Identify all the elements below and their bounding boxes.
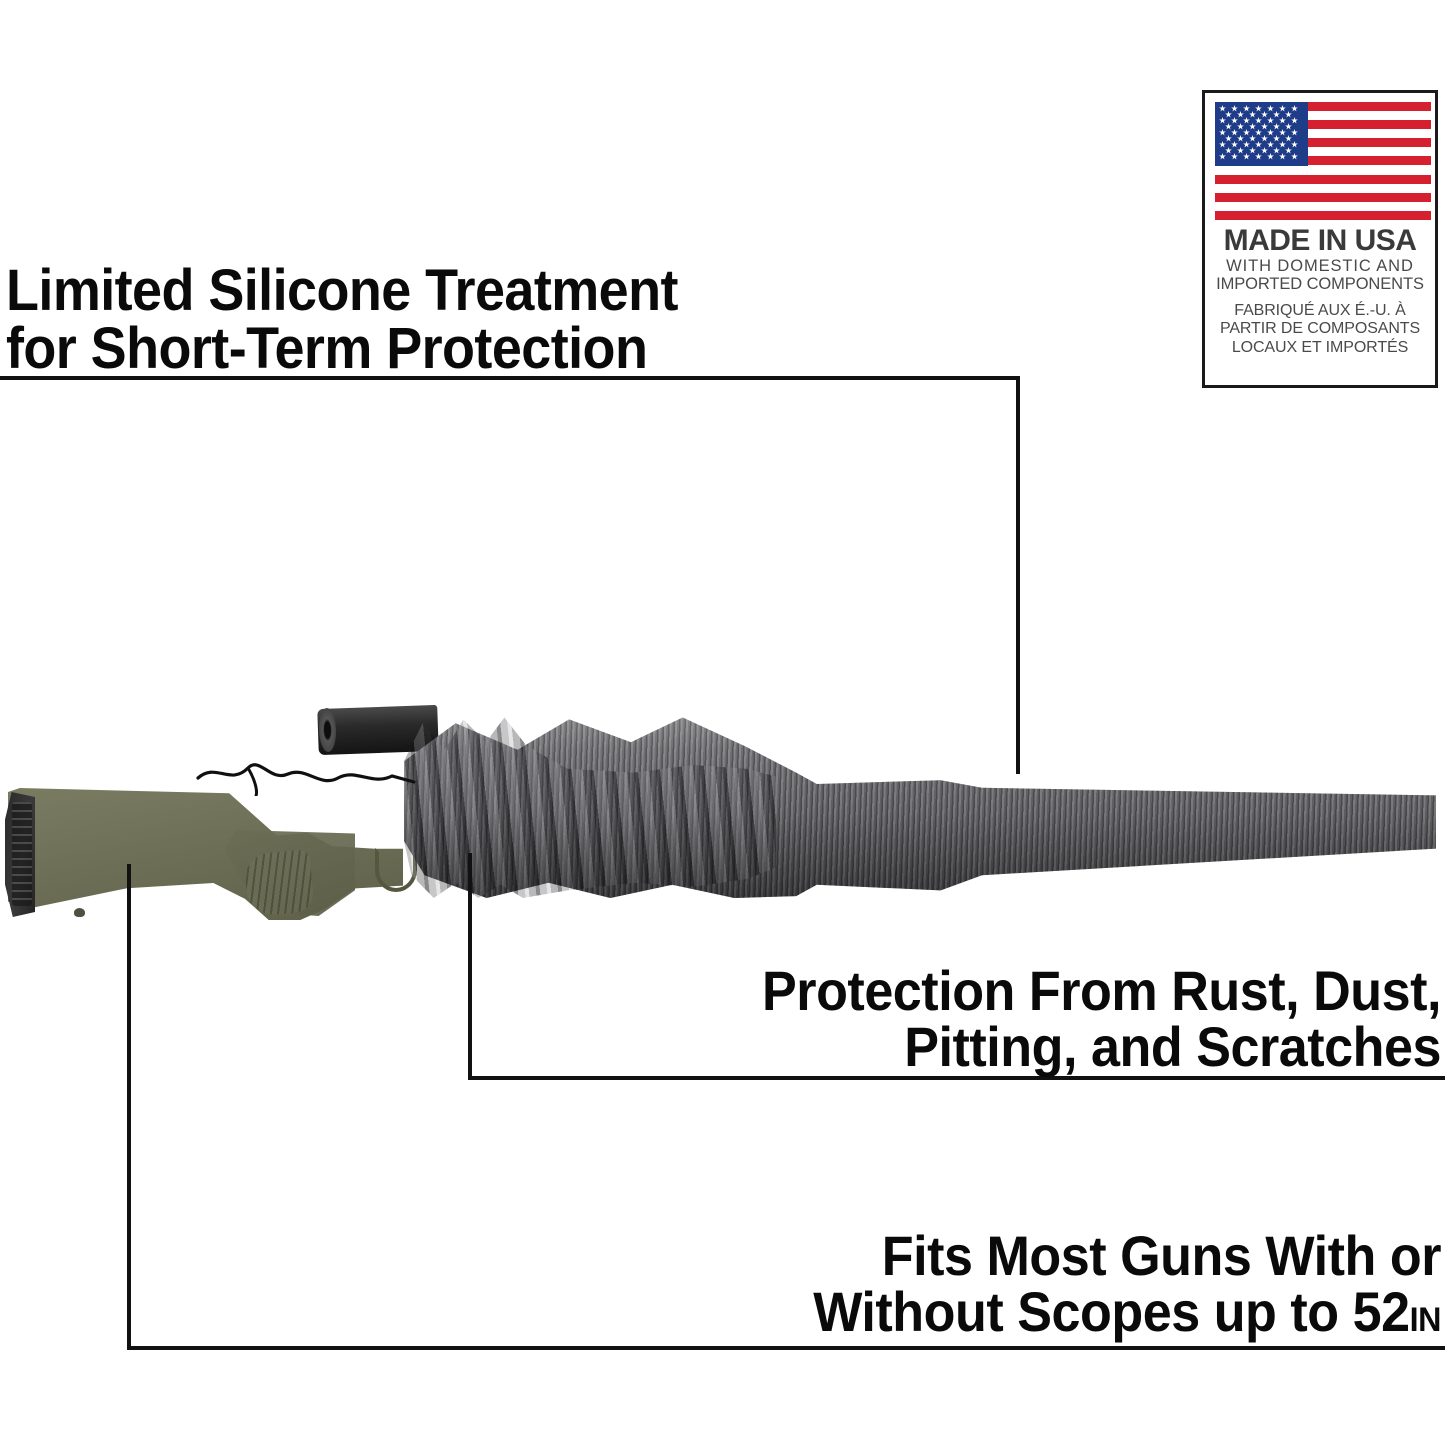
- product-infographic: MADE IN USA WITH DOMESTIC AND IMPORTED C…: [0, 0, 1445, 1445]
- callout-3-unit: IN: [1410, 1301, 1441, 1339]
- callout-2-line-1: Protection From Rust, Dust,: [101, 963, 1441, 1019]
- badge-french-line3: LOCAUX ET IMPORTÉS: [1215, 339, 1425, 358]
- callout-1-line-2: for Short-Term Protection: [6, 320, 678, 378]
- callout-3-line-2-main: Without Scopes up to 52: [813, 1280, 1409, 1343]
- us-flag-icon: [1215, 102, 1431, 220]
- flag-canton: [1215, 102, 1308, 166]
- grip-texture-panel: [243, 849, 314, 917]
- callout-silicone-treatment: Limited Silicone Treatment for Short-Ter…: [6, 262, 728, 378]
- badge-french-line2: PARTIR DE COMPOSANTS: [1215, 320, 1425, 339]
- callout-2-line-2: Pitting, and Scratches: [101, 1019, 1441, 1075]
- badge-subtitle-line2: IMPORTED COMPONENTS: [1215, 275, 1425, 294]
- callout-protection: Protection From Rust, Dust, Pitting, and…: [0, 963, 1441, 1075]
- callout-1-line-1: Limited Silicone Treatment: [6, 262, 678, 320]
- callout-3-line-2: Without Scopes up to 52IN: [101, 1284, 1441, 1340]
- leader-line-1-horizontal: [0, 376, 1020, 380]
- badge-text-block: MADE IN USA WITH DOMESTIC AND IMPORTED C…: [1215, 226, 1425, 358]
- sling-swivel-stud: [74, 908, 85, 917]
- badge-french-line1: FABRIQUÉ AUX É.-U. À: [1215, 302, 1425, 321]
- made-in-usa-badge: MADE IN USA WITH DOMESTIC AND IMPORTED C…: [1202, 90, 1438, 388]
- rifle-with-gun-sock-image: [0, 680, 1445, 950]
- recoil-pad-ribs: [12, 802, 32, 906]
- drawstring-cord: [196, 752, 416, 796]
- callout-fits-most-guns: Fits Most Guns With or Without Scopes up…: [0, 1228, 1441, 1340]
- badge-subtitle-line1: WITH DOMESTIC AND: [1215, 257, 1425, 276]
- callout-3-line-1: Fits Most Guns With or: [101, 1228, 1441, 1284]
- badge-title: MADE IN USA: [1215, 226, 1425, 257]
- leader-line-3-horizontal: [127, 1346, 1445, 1350]
